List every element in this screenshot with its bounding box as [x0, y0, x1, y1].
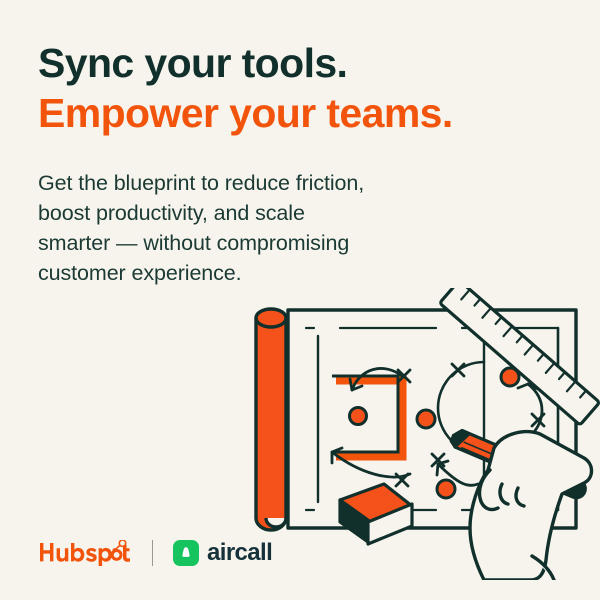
subcopy-line-3: smarter — without compromising	[38, 228, 468, 258]
subcopy-block: Get the blueprint to reduce friction, bo…	[38, 168, 468, 288]
promo-card: Sync your tools. Empower your teams. Get…	[0, 0, 600, 600]
eraser	[340, 484, 412, 544]
subcopy-line-1: Get the blueprint to reduce friction,	[38, 168, 468, 198]
subcopy-line-2: boost productivity, and scale	[38, 198, 468, 228]
hubspot-logo	[40, 540, 132, 566]
headline-line-accent: Empower your teams.	[38, 88, 578, 138]
partner-logos: aircall	[40, 540, 272, 566]
aircall-logo: aircall	[173, 540, 272, 566]
aircall-wordmark: aircall	[207, 541, 272, 565]
playbook-blueprint-illustration	[232, 288, 600, 580]
hubspot-wordmark-icon	[40, 540, 132, 566]
hand-holding-pencil	[450, 428, 592, 580]
subcopy-line-4: customer experience.	[38, 258, 468, 288]
headline-line-primary: Sync your tools.	[38, 38, 578, 88]
aircall-mark-icon	[173, 540, 199, 566]
rolled-paper-edge	[256, 309, 286, 530]
headline-block: Sync your tools. Empower your teams.	[38, 38, 578, 138]
logo-divider	[152, 540, 153, 566]
